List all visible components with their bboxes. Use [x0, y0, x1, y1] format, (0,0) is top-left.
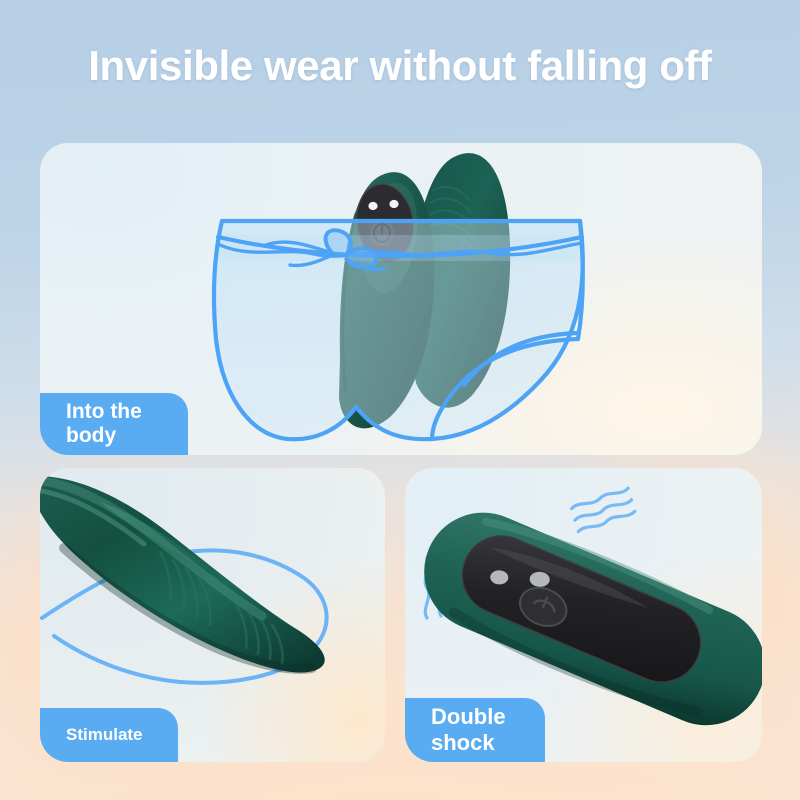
tag-line: Double	[431, 704, 506, 730]
tag-stimulate: Stimulate	[40, 708, 178, 762]
tag-line: body	[66, 424, 142, 448]
page-title: Invisible wear without falling off	[0, 44, 800, 88]
tag-line: Stimulate	[66, 725, 143, 745]
feature-card-double-shock: G Double shock	[405, 468, 762, 762]
product-feature-poster: Invisible wear without falling off	[0, 0, 800, 800]
tag-into-the-body: Into the body	[40, 393, 188, 455]
feature-card-stimulate: G Stimulate	[40, 468, 385, 762]
feature-card-into-the-body: Into the body	[40, 143, 762, 455]
product-arm	[40, 476, 325, 673]
tag-double-shock: Double shock	[405, 698, 545, 762]
led-dot-icon	[389, 200, 398, 208]
tag-line: shock	[431, 730, 506, 756]
wave-lines-icon-right	[571, 488, 636, 531]
led-dot-icon	[368, 202, 377, 210]
tag-line: Into the	[66, 400, 142, 424]
